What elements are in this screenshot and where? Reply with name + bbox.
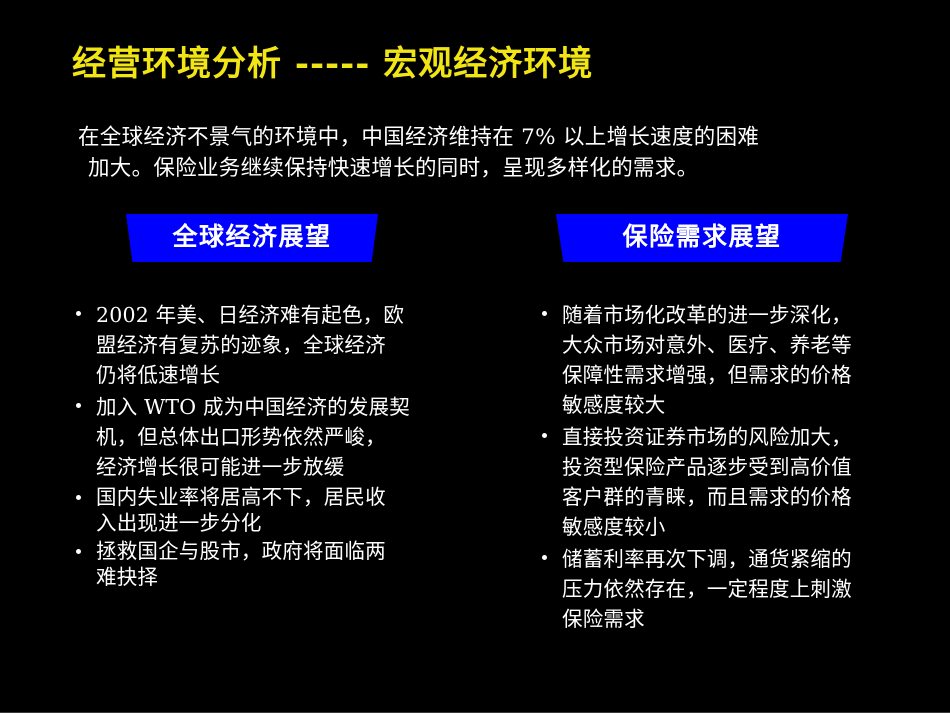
bullet-line: 保障性需求增强，但需求的价格 xyxy=(562,360,950,390)
bullet-dot-icon xyxy=(542,433,547,438)
intro-paragraph: 在全球经济不景气的环境中，中国经济维持在 7% 以上增长速度的困难 加大。保险业… xyxy=(68,122,924,184)
bullet-line: 敏感度较大 xyxy=(562,390,950,420)
header-label-left: 全球经济展望 xyxy=(126,214,378,262)
intro-line-2: 加大。保险业务继续保持快速增长的同时，呈现多样化的需求。 xyxy=(68,153,924,184)
bullet-line: 拯救国企与股市，政府将面临两 xyxy=(96,538,490,564)
bullet-line: 加入 WTO 成为中国经济的发展契 xyxy=(96,392,490,422)
list-item: 随着市场化改革的进一步深化， 大众市场对意外、医疗、养老等 保障性需求增强，但需… xyxy=(536,300,950,420)
bullet-dot-icon xyxy=(76,403,81,408)
list-item: 储蓄利率再次下调，通货紧缩的 压力依然存在，一定程度上刺激 保险需求 xyxy=(536,544,950,634)
bullet-line: 敏感度较小 xyxy=(562,512,950,542)
bullet-line: 国内失业率将居高不下，居民收 xyxy=(96,484,490,510)
bullet-dot-icon xyxy=(542,311,547,316)
bullet-line: 2002 年美、日经济难有起色，欧 xyxy=(96,300,490,330)
header-label-right: 保险需求展望 xyxy=(556,214,848,262)
presentation-slide: 经营环境分析 ----- 宏观经济环境 在全球经济不景气的环境中，中国经济维持在… xyxy=(0,0,950,713)
bullet-line: 仍将低速增长 xyxy=(96,360,490,390)
bullet-line: 机，但总体出口形势依然严峻， xyxy=(96,422,490,452)
bullet-line: 经济增长很可能进一步放缓 xyxy=(96,452,490,482)
bullet-line: 压力依然存在，一定程度上刺激 xyxy=(562,574,950,604)
column-header-right: 保险需求展望 xyxy=(528,208,948,266)
column-insurance-demand: 保险需求展望 随着市场化改革的进一步深化， 大众市场对意外、医疗、养老等 保障性… xyxy=(528,208,948,266)
bullet-line: 直接投资证券市场的风险加大， xyxy=(562,422,950,452)
bullet-dot-icon xyxy=(76,311,81,316)
bullet-line: 投资型保险产品逐步受到高价值 xyxy=(562,452,950,482)
bullet-line: 保险需求 xyxy=(562,604,950,634)
column-header-left: 全球经济展望 xyxy=(62,208,482,266)
bullet-line: 入出现进一步分化 xyxy=(96,510,490,536)
list-item: 拯救国企与股市，政府将面临两 难抉择 xyxy=(70,538,490,590)
bullet-line: 客户群的青睐，而且需求的价格 xyxy=(562,482,950,512)
list-item: 国内失业率将居高不下，居民收 入出现进一步分化 xyxy=(70,484,490,536)
list-item: 2002 年美、日经济难有起色，欧 盟经济有复苏的迹象，全球经济 仍将低速增长 xyxy=(70,300,490,390)
column-global-economy: 全球经济展望 2002 年美、日经济难有起色，欧 盟经济有复苏的迹象，全球经济 … xyxy=(62,208,482,266)
bullet-dot-icon xyxy=(76,549,81,554)
bullet-list-left: 2002 年美、日经济难有起色，欧 盟经济有复苏的迹象，全球经济 仍将低速增长 … xyxy=(70,300,490,592)
intro-line-1: 在全球经济不景气的环境中，中国经济维持在 7% 以上增长速度的困难 xyxy=(68,122,924,153)
page-title: 经营环境分析 ----- 宏观经济环境 xyxy=(72,44,593,85)
bullet-line: 大众市场对意外、医疗、养老等 xyxy=(562,330,950,360)
bullet-list-right: 随着市场化改革的进一步深化， 大众市场对意外、医疗、养老等 保障性需求增强，但需… xyxy=(536,300,950,636)
list-item: 加入 WTO 成为中国经济的发展契 机，但总体出口形势依然严峻， 经济增长很可能… xyxy=(70,392,490,482)
bullet-dot-icon xyxy=(542,555,547,560)
bullet-line: 随着市场化改革的进一步深化， xyxy=(562,300,950,330)
bullet-dot-icon xyxy=(76,495,81,500)
bullet-line: 难抉择 xyxy=(96,564,490,590)
bullet-line: 盟经济有复苏的迹象，全球经济 xyxy=(96,330,490,360)
list-item: 直接投资证券市场的风险加大， 投资型保险产品逐步受到高价值 客户群的青睐，而且需… xyxy=(536,422,950,542)
bullet-line: 储蓄利率再次下调，通货紧缩的 xyxy=(562,544,950,574)
